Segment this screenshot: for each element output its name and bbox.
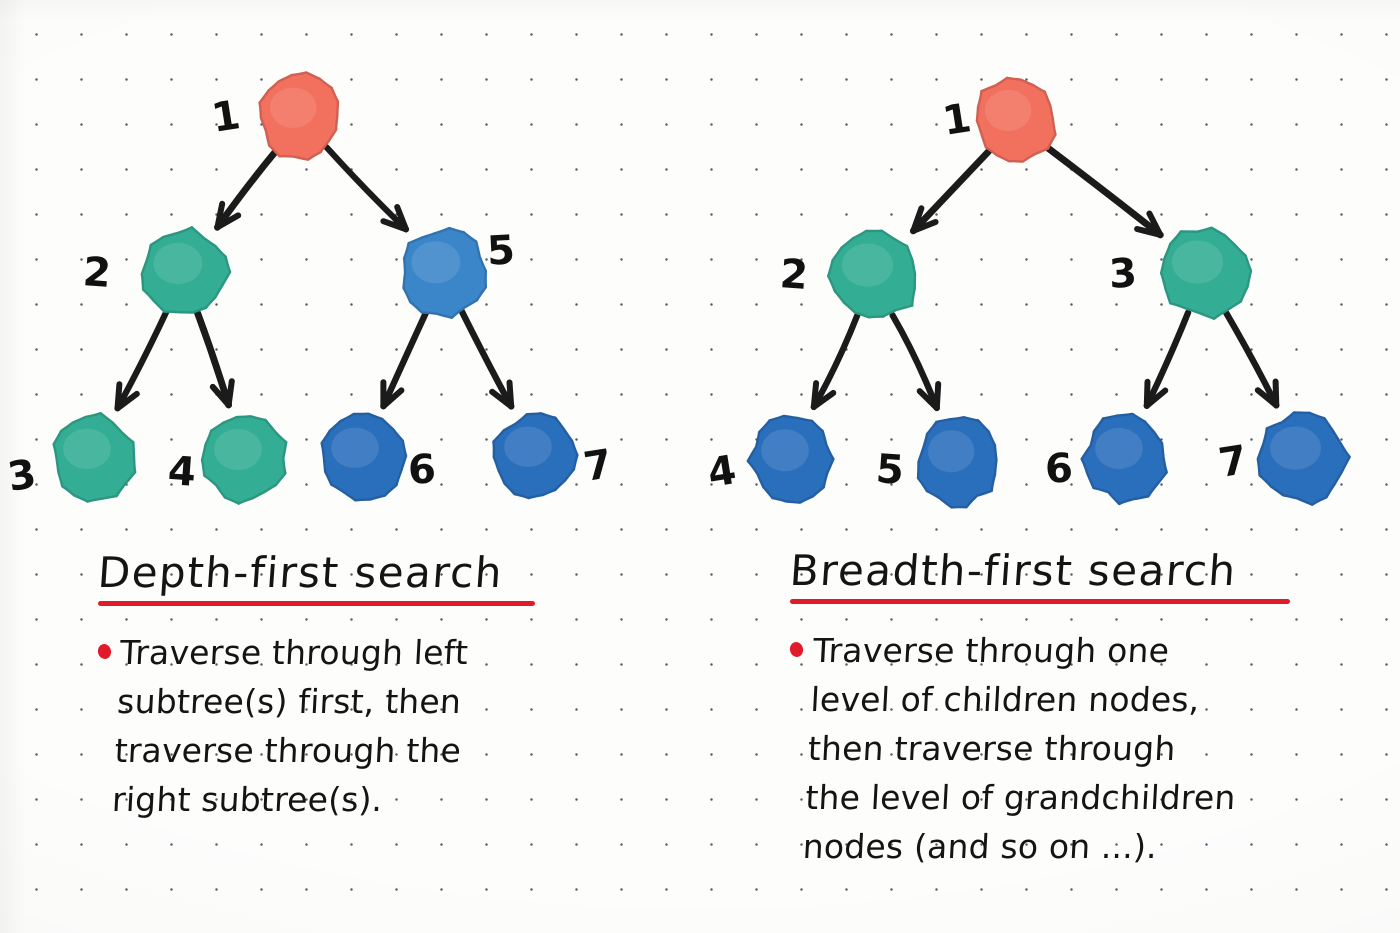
node-number-label: 7 [1216, 440, 1250, 484]
bullet-line: the level of grandchildren [804, 773, 1237, 822]
node-number-label: 6 [1044, 448, 1074, 489]
tree-node[interactable] [403, 228, 485, 318]
node-number-label: 3 [1108, 253, 1138, 294]
tree-edge-arrow [217, 150, 276, 227]
tree-node[interactable] [828, 231, 915, 318]
node-highlight [412, 241, 461, 283]
bullet-dot-icon [96, 643, 112, 661]
tree-node[interactable] [493, 413, 577, 498]
tree-node[interactable] [322, 414, 406, 501]
tree-node[interactable] [1082, 414, 1167, 504]
node-highlight [1270, 427, 1321, 470]
node-highlight [154, 243, 203, 284]
panel-depth-first-search: 1253467 Depth-first search Traverse thro… [0, 0, 700, 933]
node-number-label: 1 [209, 95, 243, 139]
node-highlight [270, 88, 316, 128]
node-highlight [504, 427, 552, 467]
bullet-line: nodes (and so on ...). [802, 822, 1235, 871]
tree-edge-arrow [327, 147, 406, 229]
arrowhead-icon [118, 384, 120, 408]
dfs-title: Depth-first search [96, 548, 659, 597]
node-highlight [1095, 428, 1143, 469]
bullet-line: Traverse through left [119, 628, 470, 677]
node-number-label: 5 [486, 230, 516, 271]
panel-breadth-first-search: 1234567 Breadth-first search Traverse th… [700, 0, 1400, 933]
node-number-label: 6 [407, 449, 437, 490]
bullet-line: Traverse through one [812, 626, 1245, 675]
node-number-label: 2 [82, 252, 113, 294]
caption-bfs: Breadth-first search Traverse through on… [790, 546, 1390, 871]
bfs-title-underline [790, 599, 1290, 604]
bullet-line: level of children nodes, [809, 675, 1242, 724]
node-highlight [761, 429, 809, 471]
node-number-label: 4 [167, 451, 198, 493]
tree-edge-arrow [913, 151, 988, 231]
node-number-label: 2 [779, 254, 810, 296]
bullet-line: right subtree(s). [111, 775, 462, 824]
dfs-bullet-text: Traverse through leftsubtree(s) first, t… [111, 628, 470, 824]
caption-dfs: Depth-first search Traverse through left… [98, 548, 658, 824]
node-highlight [1172, 241, 1223, 284]
tree-edge-arrow [1046, 146, 1161, 235]
bullet-line: subtree(s) first, then [116, 677, 467, 726]
tree-edge-arrow [893, 315, 937, 408]
tree-node[interactable] [202, 416, 286, 503]
tree-node[interactable] [977, 78, 1056, 162]
node-number-label: 7 [581, 444, 615, 488]
bullet-dot-icon [788, 641, 804, 659]
bullet-line: then traverse through [807, 724, 1240, 773]
node-number-label: 4 [705, 450, 739, 494]
bfs-bullet-text: Traverse through onelevel of children no… [802, 626, 1245, 871]
tree-edge-arrow [461, 311, 511, 407]
tree-edge-arrow [1225, 311, 1276, 405]
arrowhead-icon [1147, 382, 1148, 406]
dfs-title-underline [98, 601, 535, 606]
tree-node[interactable] [54, 413, 136, 502]
node-highlight [928, 430, 974, 472]
bfs-title: Breadth-first search [788, 546, 1391, 595]
tree-edge-arrow [118, 311, 167, 409]
tree-node[interactable] [1161, 228, 1251, 319]
node-number-label: 3 [5, 454, 39, 498]
dfs-bullet: Traverse through leftsubtree(s) first, t… [98, 628, 658, 824]
node-number-label: 1 [940, 98, 974, 142]
node-highlight [331, 428, 379, 468]
tree-node[interactable] [142, 227, 230, 312]
tree-node[interactable] [748, 416, 834, 503]
notebook-page: 1253467 Depth-first search Traverse thro… [0, 0, 1400, 933]
tree-node[interactable] [918, 417, 997, 507]
node-highlight [985, 90, 1031, 131]
node-highlight [214, 429, 262, 470]
bullet-line: traverse through the [113, 726, 464, 775]
arrowhead-icon [814, 383, 816, 407]
tree-edge-arrow [383, 312, 426, 407]
bfs-bullet: Traverse through onelevel of children no… [790, 626, 1390, 871]
node-highlight [842, 244, 893, 287]
node-highlight [63, 429, 111, 469]
tree-node[interactable] [1258, 412, 1350, 504]
node-number-label: 5 [875, 449, 906, 491]
